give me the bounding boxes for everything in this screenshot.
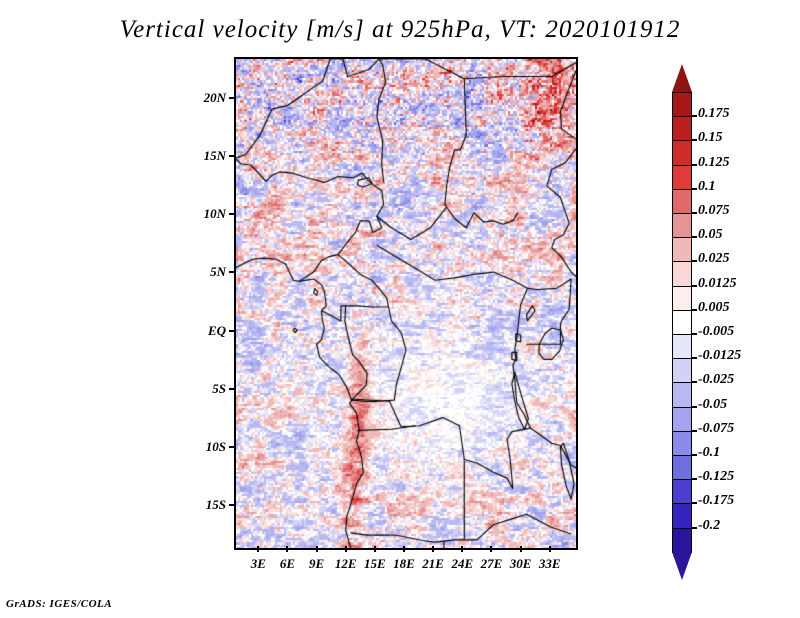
colorbar-swatch[interactable] <box>672 237 692 263</box>
y-axis-tick-mark <box>229 155 235 157</box>
y-axis-tick-label: 5S <box>192 381 226 397</box>
x-axis-tick-mark <box>432 546 434 552</box>
colorbar-tick-mark <box>692 115 697 117</box>
colorbar-tick-mark <box>692 236 697 238</box>
page-title: Vertical velocity [m/s] at 925hPa, VT: 2… <box>0 16 800 44</box>
colorbar-swatch[interactable] <box>672 189 692 215</box>
y-axis-tick-mark <box>229 213 235 215</box>
colorbar-swatch[interactable] <box>672 92 692 118</box>
x-axis-tick-mark <box>490 546 492 552</box>
colorbar-swatch[interactable] <box>672 455 692 481</box>
colorbar-tick-mark <box>692 430 697 432</box>
colorbar-tick-mark <box>692 164 697 166</box>
colorbar-tick-label: -0.075 <box>698 421 734 437</box>
colorbar-tick-mark <box>692 357 697 359</box>
y-axis-tick-label: 15S <box>192 497 226 513</box>
x-axis-tick-label: 33E <box>532 556 568 572</box>
y-axis-tick-label: 20N <box>192 90 226 106</box>
colorbar-swatch[interactable] <box>672 503 692 529</box>
map-plot-area[interactable] <box>234 57 578 550</box>
x-axis-tick-mark <box>403 546 405 552</box>
colorbar-tick-label: 0.15 <box>698 130 723 146</box>
y-axis-tick-mark <box>229 388 235 390</box>
colorbar-swatch[interactable] <box>672 334 692 360</box>
colorbar-tick-label: -0.1 <box>698 445 720 461</box>
colorbar-tick-label: 0.05 <box>698 227 723 243</box>
colorbar-tick-label: -0.05 <box>698 397 727 413</box>
colorbar-tick-label: -0.175 <box>698 493 734 509</box>
y-axis-tick-mark <box>229 330 235 332</box>
x-axis-tick-mark <box>286 546 288 552</box>
x-axis-tick-mark <box>374 546 376 552</box>
colorbar-swatch[interactable] <box>672 528 692 554</box>
colorbar-swatch[interactable] <box>672 286 692 312</box>
y-axis-tick-label: 10S <box>192 439 226 455</box>
colorbar-tick-mark <box>692 381 697 383</box>
y-axis-tick-label: 15N <box>192 148 226 164</box>
y-axis-tick-mark <box>229 97 235 99</box>
colorbar-swatch[interactable] <box>672 310 692 336</box>
colorbar-tick-mark <box>692 212 697 214</box>
colorbar-tick-label: 0.005 <box>698 300 730 316</box>
grads-attribution: GrADS: IGES/COLA <box>6 598 112 610</box>
x-axis-tick-mark <box>345 546 347 552</box>
colorbar-swatch[interactable] <box>672 116 692 142</box>
colorbar-tick-label: 0.075 <box>698 203 730 219</box>
colorbar-over-arrow <box>672 64 692 92</box>
colorbar-swatch[interactable] <box>672 165 692 191</box>
x-axis-tick-mark <box>520 546 522 552</box>
colorbar-tick-mark <box>692 478 697 480</box>
colorbar-tick-label: 0.175 <box>698 106 730 122</box>
colorbar-tick-label: 0.1 <box>698 179 716 195</box>
colorbar-tick-label: 0.025 <box>698 251 730 267</box>
colorbar-tick-mark <box>692 333 697 335</box>
y-axis-tick-mark <box>229 504 235 506</box>
colorbar-swatch[interactable] <box>672 407 692 433</box>
colorbar-swatch[interactable] <box>672 382 692 408</box>
y-axis-tick-label: 10N <box>192 206 226 222</box>
colorbar-tick-mark <box>692 260 697 262</box>
colorbar-legend[interactable]: 0.1750.150.1250.10.0750.050.0250.01250.0… <box>670 62 800 554</box>
colorbar-tick-mark <box>692 454 697 456</box>
y-axis-tick-mark <box>229 446 235 448</box>
colorbar-swatch[interactable] <box>672 479 692 505</box>
colorbar-tick-mark <box>692 406 697 408</box>
colorbar-under-arrow <box>672 552 692 580</box>
colorbar-tick-label: 0.0125 <box>698 276 737 292</box>
colorbar-tick-label: -0.2 <box>698 518 720 534</box>
x-axis-tick-mark <box>549 546 551 552</box>
colorbar-tick-mark <box>692 285 697 287</box>
colorbar-tick-label: -0.0125 <box>698 348 741 364</box>
colorbar-tick-label: -0.025 <box>698 372 734 388</box>
y-axis-tick-label: 5N <box>192 264 226 280</box>
x-axis-tick-mark <box>257 546 259 552</box>
colorbar-tick-mark <box>692 527 697 529</box>
x-axis-tick-mark <box>461 546 463 552</box>
colorbar-swatch[interactable] <box>672 213 692 239</box>
colorbar-swatch[interactable] <box>672 140 692 166</box>
y-axis-tick-label: EQ <box>192 323 226 339</box>
colorbar-swatch[interactable] <box>672 261 692 287</box>
colorbar-swatch[interactable] <box>672 431 692 457</box>
colorbar-tick-mark <box>692 139 697 141</box>
coastline-border-overlay <box>236 59 576 548</box>
colorbar-tick-mark <box>692 502 697 504</box>
colorbar-tick-mark <box>692 188 697 190</box>
colorbar-tick-label: 0.125 <box>698 155 730 171</box>
x-axis-tick-mark <box>316 546 318 552</box>
colorbar-tick-label: -0.125 <box>698 469 734 485</box>
colorbar-tick-mark <box>692 309 697 311</box>
colorbar-swatch[interactable] <box>672 358 692 384</box>
colorbar-tick-label: -0.005 <box>698 324 734 340</box>
y-axis-tick-mark <box>229 271 235 273</box>
